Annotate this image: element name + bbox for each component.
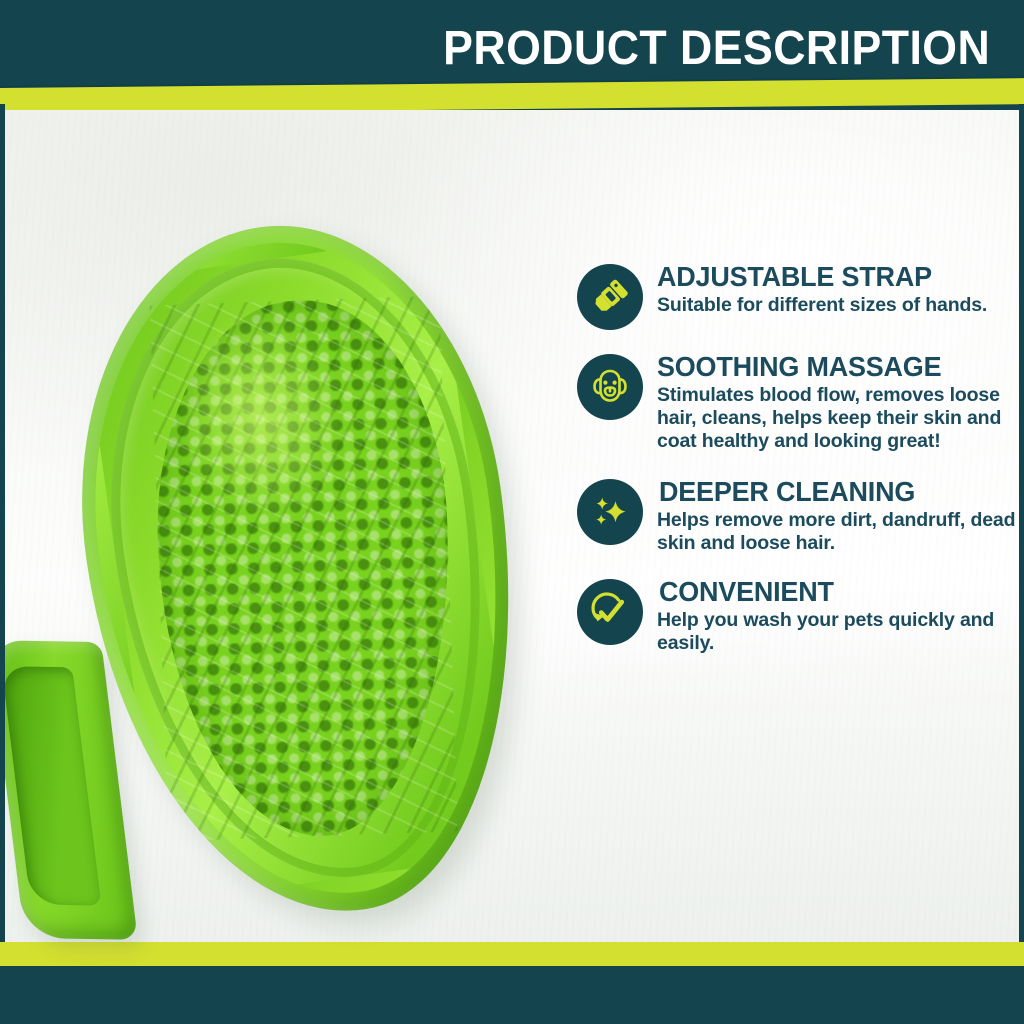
feature-item-deeper-cleaning: DEEPER CLEANING Helps remove more dirt, … xyxy=(577,475,1019,555)
content-panel: ADJUSTABLE STRAP Suitable for different … xyxy=(5,110,1019,967)
feature-icon-container xyxy=(577,264,645,332)
feature-description: Helps remove more dirt, dandruff, dead s… xyxy=(657,509,1019,555)
product-strap-inner xyxy=(5,666,101,905)
feature-title: CONVENIENT xyxy=(659,577,1012,607)
feature-icon-container xyxy=(577,579,645,647)
dog-face-icon xyxy=(577,354,643,420)
product-brush-rim xyxy=(59,217,541,921)
feature-item-soothing-massage: SOOTHING MASSAGE Stimulates blood flow, … xyxy=(577,350,1019,453)
feature-icon-container xyxy=(577,479,645,547)
feature-title: SOOTHING MASSAGE xyxy=(657,352,1012,382)
feature-item-convenient: CONVENIENT Help you wash your pets quick… xyxy=(577,575,1019,655)
right-edge-border xyxy=(1019,104,1024,967)
sparkle-icon xyxy=(577,479,643,545)
feature-item-adjustable-strap: ADJUSTABLE STRAP Suitable for different … xyxy=(577,260,1019,332)
page-title: PRODUCT DESCRIPTION xyxy=(443,21,990,77)
feature-title: DEEPER CLEANING xyxy=(659,477,1012,507)
strap-icon xyxy=(577,264,643,330)
footer-band xyxy=(0,966,1024,1024)
feature-text-block: CONVENIENT Help you wash your pets quick… xyxy=(657,575,1019,655)
feature-text-block: SOOTHING MASSAGE Stimulates blood flow, … xyxy=(657,350,1019,453)
feature-list: ADJUSTABLE STRAP Suitable for different … xyxy=(577,260,1019,655)
feature-description: Suitable for different sizes of hands. xyxy=(657,294,1019,317)
product-image xyxy=(5,185,605,967)
feature-description: Stimulates blood flow, removes loose hai… xyxy=(657,384,1019,453)
feature-text-block: ADJUSTABLE STRAP Suitable for different … xyxy=(657,260,1019,317)
check-refresh-icon xyxy=(577,579,643,645)
product-description-infographic: PRODUCT DESCRIPTION xyxy=(0,0,1024,1024)
feature-title: ADJUSTABLE STRAP xyxy=(657,262,1012,292)
feature-icon-container xyxy=(577,354,645,422)
feature-text-block: DEEPER CLEANING Helps remove more dirt, … xyxy=(657,475,1019,555)
feature-description: Help you wash your pets quickly and easi… xyxy=(657,609,1019,655)
